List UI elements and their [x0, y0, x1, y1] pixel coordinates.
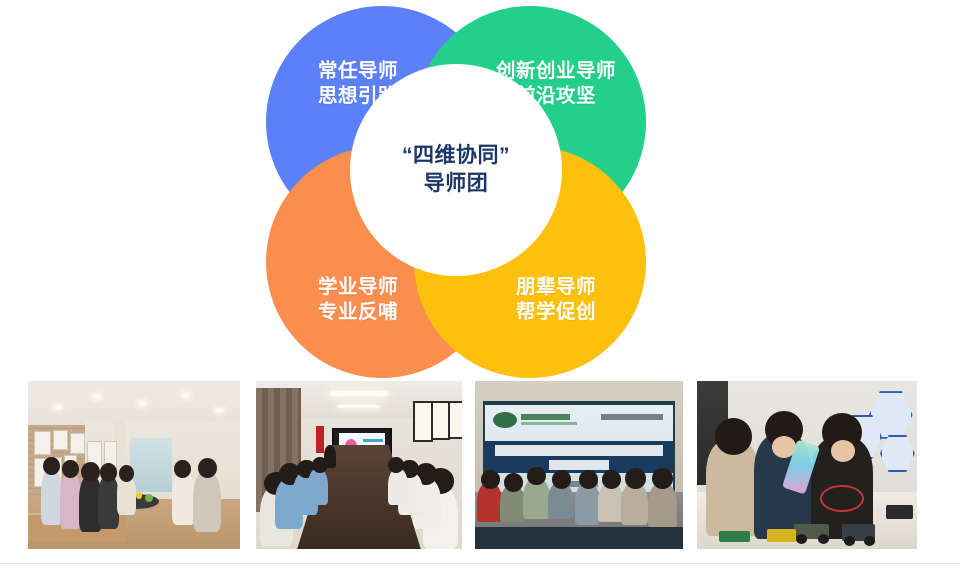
photo-scene-robotics-lab — [697, 381, 917, 549]
photo-scene-lounge — [28, 381, 240, 549]
venn-circles-group: 常任导师 思想引路 创新创业导师 前沿攻坚 学业导师 专业反哺 朋辈导师 帮学促… — [266, 6, 646, 378]
gallery-photo-lecture-hall-salon[interactable] — [475, 381, 683, 549]
mentor-team-venn-diagram: 常任导师 思想引路 创新创业导师 前沿攻坚 学业导师 专业反哺 朋辈导师 帮学促… — [0, 0, 960, 378]
photo-scene-lecture-hall — [475, 381, 683, 549]
slide-organization-logo — [493, 412, 517, 428]
gallery-photo-lounge-discussion[interactable] — [28, 381, 240, 549]
photo-gallery-strip — [0, 378, 960, 553]
photo-scene-meeting-room — [256, 381, 462, 549]
venn-lobe-label-academic-mentor: 学业导师 专业反哺 — [318, 275, 398, 325]
venn-lobe-label-peer-mentor: 朋辈导师 帮学促创 — [516, 275, 596, 325]
page-bottom-divider — [0, 563, 960, 564]
venn-center-circle: “四维协同” 导师团 — [350, 64, 562, 276]
venn-center-label: “四维协同” 导师团 — [402, 142, 510, 199]
gallery-photo-meeting-room-briefing[interactable] — [256, 381, 462, 549]
gallery-photo-robotics-lab[interactable] — [697, 381, 917, 549]
